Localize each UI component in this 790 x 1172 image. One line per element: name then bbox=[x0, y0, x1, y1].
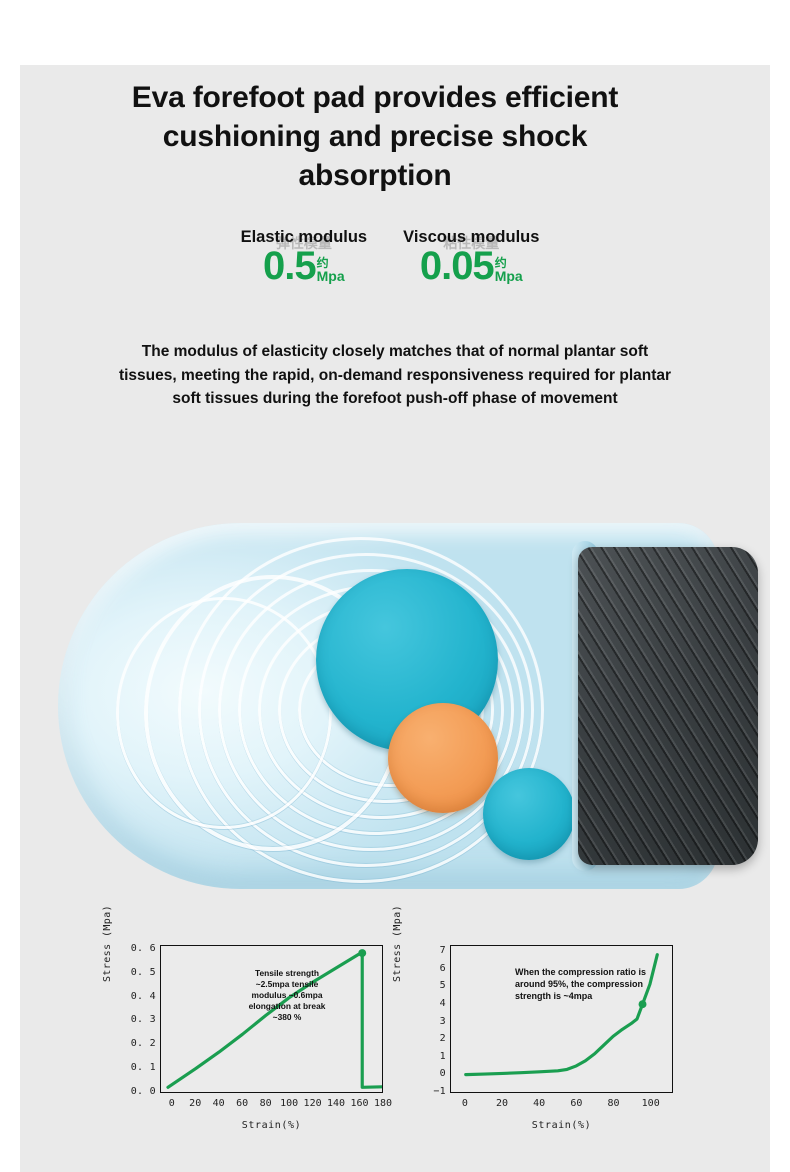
annot-line-5: ~380 % bbox=[223, 1012, 351, 1023]
body-line-1: The modulus of elasticity closely matche… bbox=[24, 340, 766, 364]
x-axis-tick-label: 100 bbox=[642, 1098, 660, 1109]
annot-line-2: ~2.5mpa tensile bbox=[223, 979, 351, 990]
stat-number-viscous: 0.05 bbox=[420, 248, 494, 286]
y-axis-tick-label: 0. 6 bbox=[112, 943, 156, 954]
stat-units-elastic: 约 Mpa bbox=[317, 257, 345, 286]
stat-elastic-modulus: 弹性模量 Elastic modulus 0.5 约 Mpa bbox=[241, 228, 368, 286]
body-line-2: tissues, meeting the rapid, on-demand re… bbox=[24, 364, 766, 388]
y-axis-tick-label: 3 bbox=[402, 1016, 446, 1027]
annot-line-1: When the compression ratio is bbox=[515, 966, 695, 978]
chart-compression-xlabel: Strain(%) bbox=[450, 1120, 673, 1131]
insole-ridge bbox=[116, 597, 332, 829]
y-axis-tick-label: 0. 2 bbox=[112, 1038, 156, 1049]
y-axis-tick-label: 0. 0 bbox=[112, 1086, 156, 1097]
chart-compression-yticks: −101234567 bbox=[400, 945, 446, 1093]
y-axis-tick-label: 7 bbox=[402, 945, 446, 956]
y-axis-tick-label: 0. 4 bbox=[112, 991, 156, 1002]
y-axis-tick-label: 6 bbox=[402, 963, 446, 974]
headline-line-1: Eva forefoot pad provides efficient bbox=[40, 78, 710, 117]
annot-line-2: around 95%, the compression bbox=[515, 978, 695, 990]
stat-value-viscous: 0.05 约 Mpa bbox=[403, 248, 539, 286]
y-axis-tick-label: 0. 3 bbox=[112, 1014, 156, 1025]
y-axis-tick-label: 0. 5 bbox=[112, 967, 156, 978]
x-axis-tick-label: 40 bbox=[213, 1098, 225, 1109]
stat-unit-elastic: Mpa bbox=[317, 269, 345, 284]
chart-tensile-xlabel: Strain(%) bbox=[160, 1120, 383, 1131]
product-detail-page: Eva forefoot pad provides efficient cush… bbox=[0, 0, 790, 1172]
x-axis-tick-label: 20 bbox=[496, 1098, 508, 1109]
chart-compression: Stress (Mpa) −101234567 When the compres… bbox=[400, 930, 690, 1145]
annot-line-4: elongation at break bbox=[223, 1001, 351, 1012]
y-axis-tick-label: 0 bbox=[402, 1068, 446, 1079]
annot-line-3: strength is ~4mpa bbox=[515, 990, 695, 1002]
y-axis-tick-label: −1 bbox=[402, 1086, 446, 1097]
annot-line-3: modulus ~0.6mpa bbox=[223, 990, 351, 1001]
stat-unit-viscous: Mpa bbox=[495, 269, 523, 284]
chart-tensile-plot: Tensile strength ~2.5mpa tensile modulus… bbox=[160, 945, 383, 1093]
product-photo bbox=[20, 455, 770, 925]
x-axis-tick-label: 140 bbox=[327, 1098, 345, 1109]
insole-illustration bbox=[58, 523, 758, 889]
body-paragraph: The modulus of elasticity closely matche… bbox=[24, 340, 766, 411]
forefoot-pad-orange bbox=[388, 703, 498, 813]
chart-tensile-yticks: 0. 00. 10. 20. 30. 40. 50. 6 bbox=[110, 945, 156, 1093]
y-axis-tick-label: 0. 1 bbox=[112, 1062, 156, 1073]
x-axis-tick-label: 80 bbox=[260, 1098, 272, 1109]
stat-viscous-modulus: 粘性模量 Viscous modulus 0.05 约 Mpa bbox=[403, 228, 539, 286]
y-axis-tick-label: 2 bbox=[402, 1033, 446, 1044]
headline-line-3: absorption bbox=[40, 156, 710, 195]
x-axis-tick-label: 180 bbox=[374, 1098, 392, 1109]
headline-line-2: cushioning and precise shock bbox=[40, 117, 710, 156]
stat-units-viscous: 约 Mpa bbox=[495, 257, 523, 286]
x-axis-tick-label: 60 bbox=[570, 1098, 582, 1109]
stat-number-elastic: 0.5 bbox=[263, 248, 316, 286]
body-line-3: soft tissues during the forefoot push-of… bbox=[24, 387, 766, 411]
x-axis-tick-label: 160 bbox=[350, 1098, 368, 1109]
x-axis-tick-label: 20 bbox=[189, 1098, 201, 1109]
x-axis-tick-label: 100 bbox=[280, 1098, 298, 1109]
chart-tensile-annotation: Tensile strength ~2.5mpa tensile modulus… bbox=[223, 968, 351, 1023]
x-axis-tick-label: 60 bbox=[236, 1098, 248, 1109]
y-axis-tick-label: 5 bbox=[402, 980, 446, 991]
chart-tensile-xticks: 020406080100120140160180 bbox=[160, 1098, 383, 1114]
annot-line-1: Tensile strength bbox=[223, 968, 351, 979]
x-axis-tick-label: 120 bbox=[304, 1098, 322, 1109]
forefoot-pad-teal-small bbox=[483, 768, 575, 860]
x-axis-tick-label: 0 bbox=[169, 1098, 175, 1109]
y-axis-tick-label: 1 bbox=[402, 1051, 446, 1062]
insole-heel-section bbox=[578, 547, 758, 865]
chart-compression-xticks: 020406080100 bbox=[450, 1098, 673, 1114]
stat-value-elastic: 0.5 约 Mpa bbox=[241, 248, 368, 286]
x-axis-tick-label: 80 bbox=[608, 1098, 620, 1109]
chart-compression-annotation: When the compression ratio is around 95%… bbox=[515, 966, 695, 1002]
y-axis-tick-label: 4 bbox=[402, 998, 446, 1009]
data-point-marker bbox=[358, 949, 366, 957]
x-axis-tick-label: 40 bbox=[533, 1098, 545, 1109]
modulus-stats: 弹性模量 Elastic modulus 0.5 约 Mpa 粘性模量 Visc… bbox=[180, 228, 600, 286]
page-title: Eva forefoot pad provides efficient cush… bbox=[40, 78, 710, 195]
chart-compression-plot: When the compression ratio is around 95%… bbox=[450, 945, 673, 1093]
chart-tensile: Stress (Mpa) 0. 00. 10. 20. 30. 40. 50. … bbox=[110, 930, 400, 1145]
x-axis-tick-label: 0 bbox=[462, 1098, 468, 1109]
